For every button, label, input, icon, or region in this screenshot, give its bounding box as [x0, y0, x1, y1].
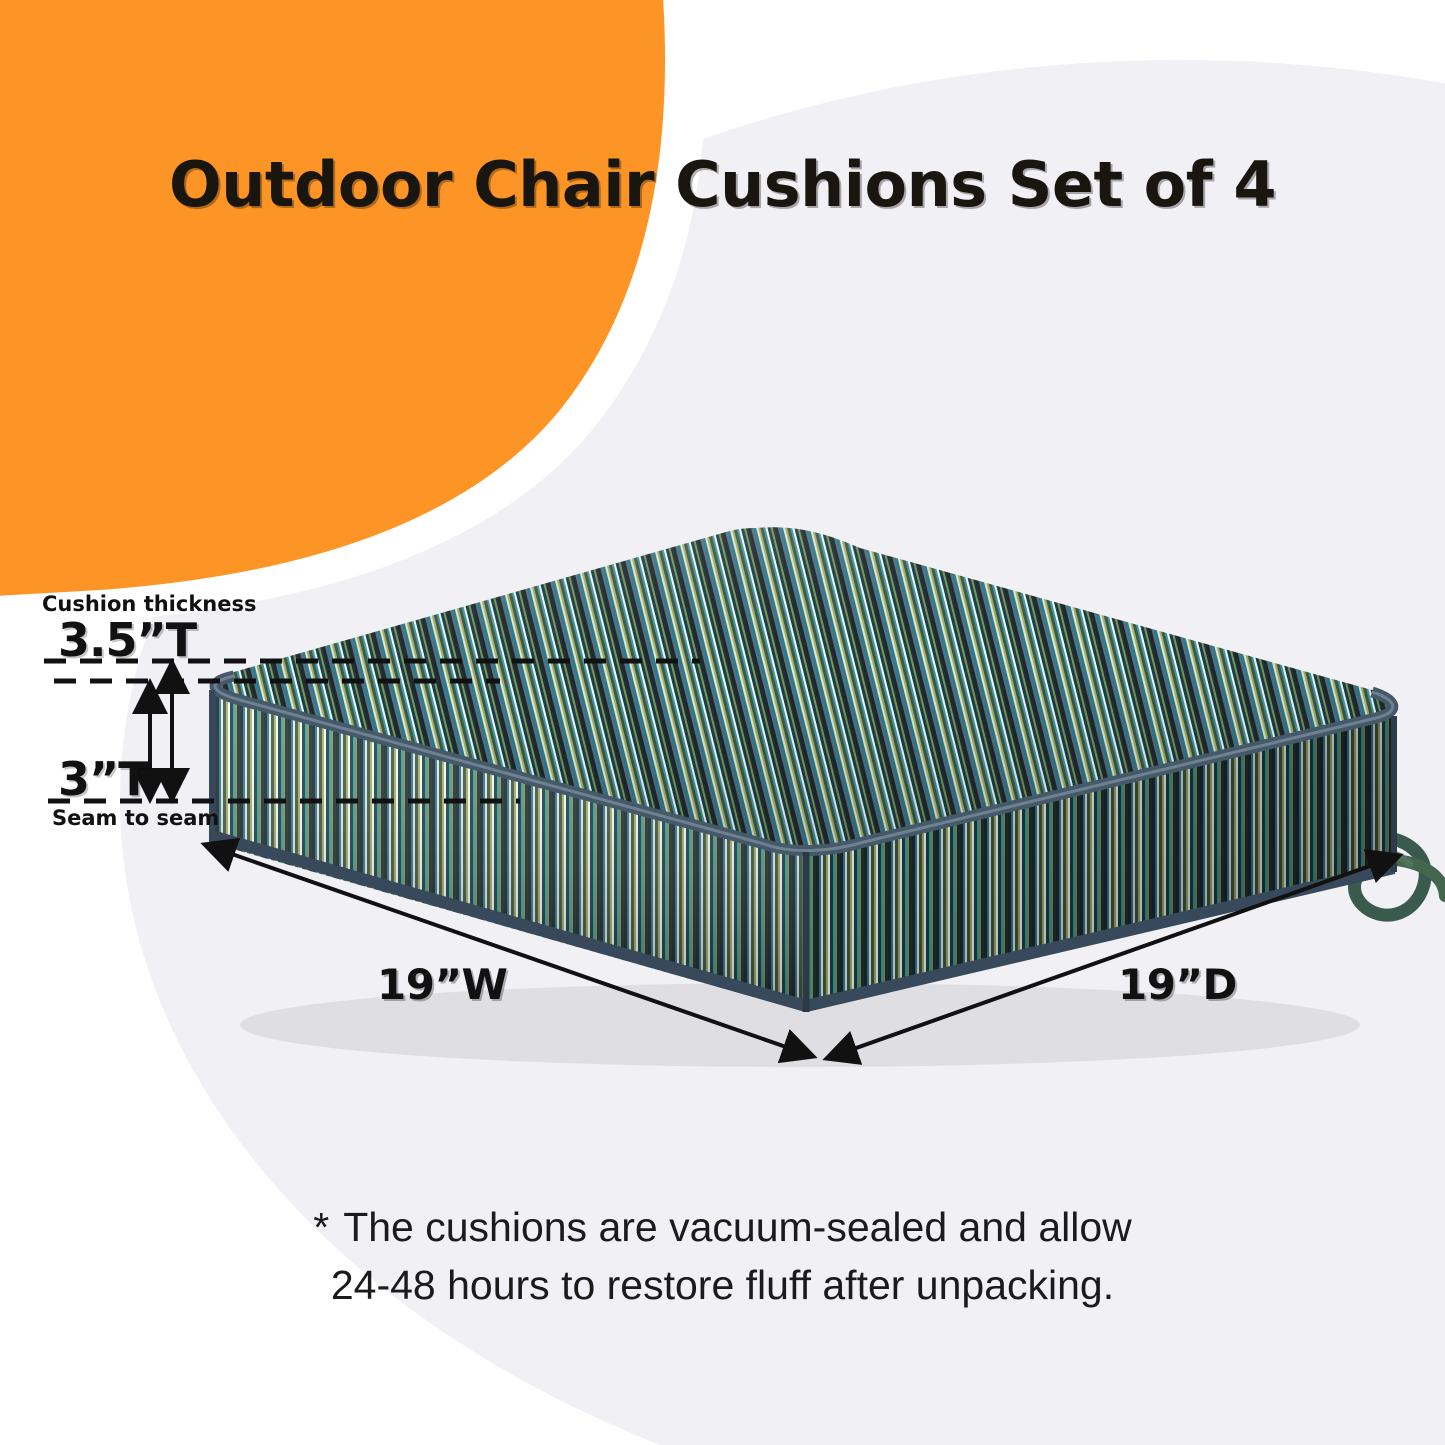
seam-to-seam-value: 3”T — [58, 752, 149, 806]
width-dimension-label: 19”W — [377, 960, 507, 1009]
footnote-line-2: 24-48 hours to restore fluff after unpac… — [0, 1256, 1445, 1314]
footnote: *The cushions are vacuum-sealed and allo… — [0, 1198, 1445, 1314]
cushion-body — [212, 527, 1394, 1012]
depth-dimension-label: 19”D — [1118, 960, 1237, 1009]
footnote-line-1: *The cushions are vacuum-sealed and allo… — [0, 1198, 1445, 1256]
cushion-thickness-value: 3.5”T — [58, 613, 196, 667]
product-infographic: Outdoor Chair Cushions Set of 4 — [0, 0, 1445, 1445]
seam-to-seam-caption: Seam to seam — [52, 806, 219, 830]
asterisk-icon: * — [313, 1204, 329, 1250]
footnote-line-1-text: The cushions are vacuum-sealed and allow — [343, 1204, 1132, 1250]
